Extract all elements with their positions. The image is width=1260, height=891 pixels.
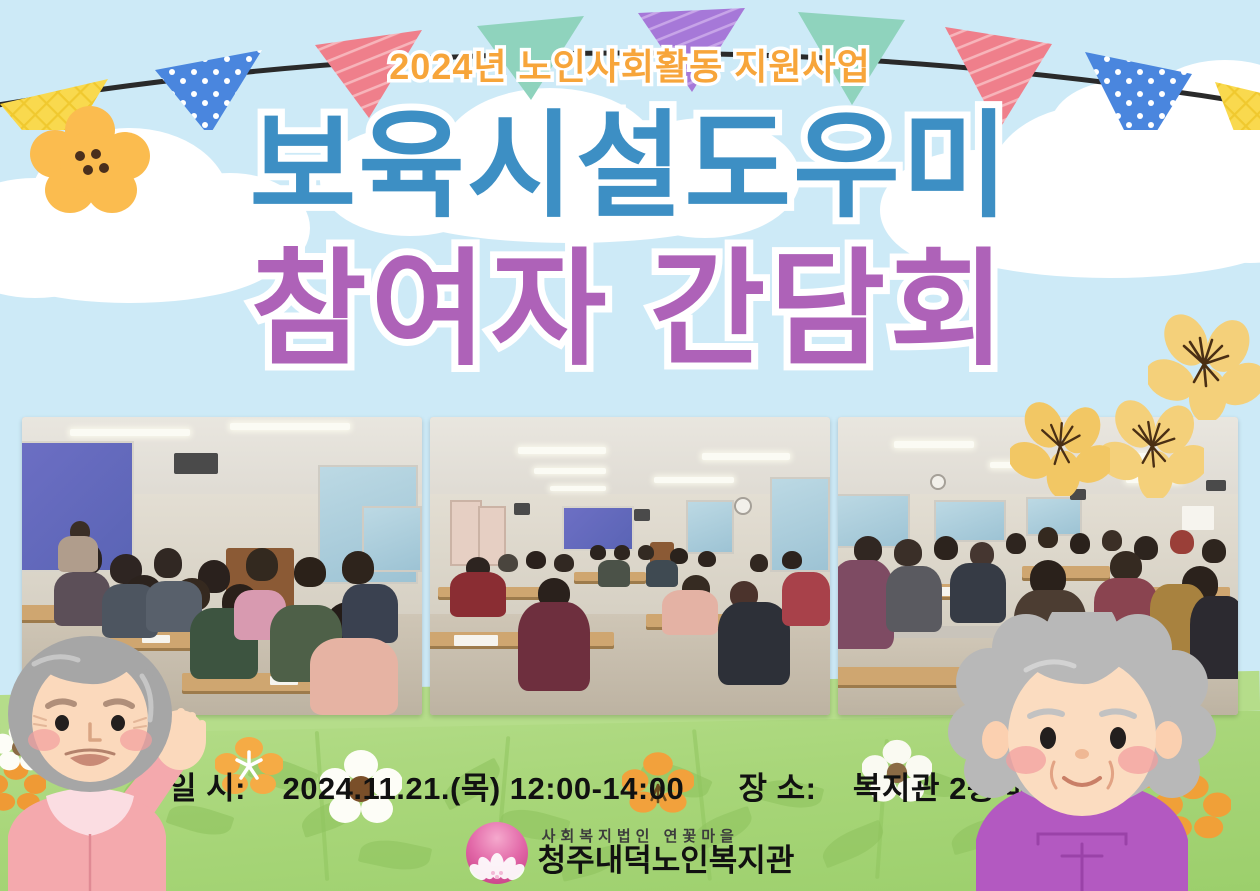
supertitle: 2024년 노인사회활동 지원사업 (0, 38, 1260, 90)
lotus-flower-icon (466, 822, 528, 884)
organization-main-name: 청주내덕노인복지관 (538, 845, 795, 878)
yellow-lily-icon-photo-overlay (1010, 400, 1110, 496)
page-title-line2: 참여자 간담회 (0, 238, 1260, 383)
yellow-lily-icon-right-lower (1100, 398, 1204, 498)
page-title-line1: 보육시설도우미 (0, 100, 1260, 233)
event-poster: 2024년 노인사회활동 지원사업 보육시설도우미 참여자 간담회 (0, 0, 1260, 891)
date-value: 2024.11.21.(목) 12:00-14:00 (282, 771, 684, 806)
elderly-woman-waving-character (0, 628, 234, 891)
photo-2-wide-classroom (430, 417, 830, 715)
place-label: 장 소: (738, 771, 816, 806)
elderly-woman-smiling-character (942, 612, 1222, 891)
